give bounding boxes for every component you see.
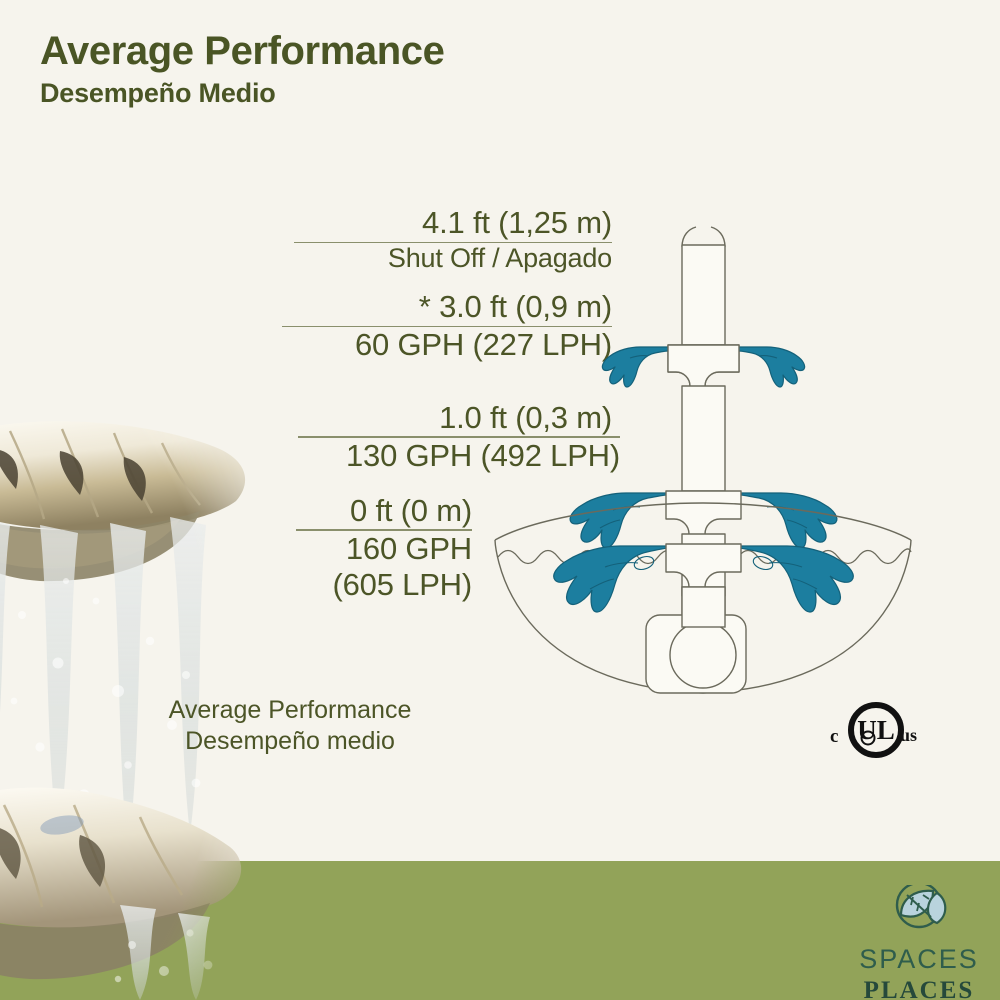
spec-flow-3: 160 GPH — [0, 531, 480, 568]
spray-bottom-left — [554, 546, 669, 612]
logo-word-spaces: SPACES — [845, 946, 993, 973]
ul-certification-mark: c UL us — [828, 700, 924, 762]
brand-logo: SPACES PLACES — [845, 885, 993, 993]
logo-word-places: PLACES — [845, 978, 993, 1000]
page-subtitle: Desempeño Medio — [40, 79, 444, 109]
page-title: Average Performance — [40, 30, 444, 72]
fountain-diagram — [480, 215, 940, 705]
page-title-block: Average Performance Desempeño Medio — [40, 30, 444, 109]
spray-bottom-right — [738, 546, 853, 612]
spec-height-3: 0 ft (0 m) — [0, 493, 480, 530]
leaf-circle-icon — [845, 885, 993, 941]
spec-flow-3b: (605 LPH) — [0, 567, 480, 604]
ul-left-letter: c — [830, 726, 838, 747]
product-spec-graphic: Average Performance Desempeño Medio 4.1 … — [0, 0, 1000, 1000]
caption-line-es: Desempeño medio — [0, 726, 580, 757]
ul-right-letters: us — [900, 725, 917, 745]
